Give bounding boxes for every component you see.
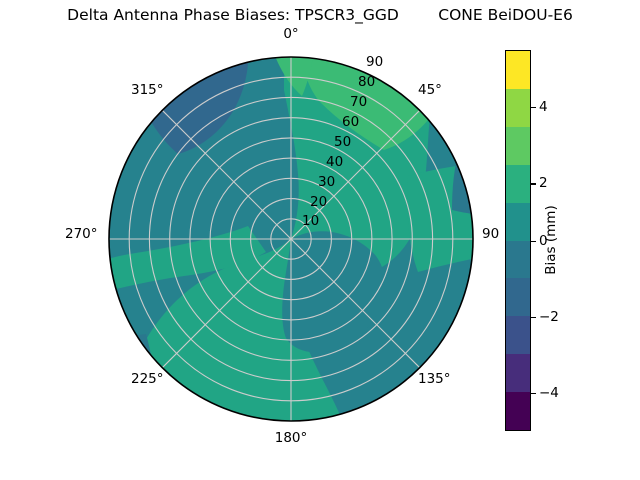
colorbar-tick-mark-neg2 (531, 317, 536, 318)
theta-tick-225: 225° (131, 371, 164, 387)
colorbar-band-6 (506, 278, 530, 316)
colorbar-band-4 (506, 203, 530, 241)
colorbar-tick-mark-neg4 (531, 393, 536, 394)
theta-tick-315: 315° (131, 82, 164, 98)
colorbar-tick-mark-2 (531, 183, 536, 184)
radial-tick-90: 90 (366, 54, 383, 70)
colorbar-tick-mark-4 (531, 107, 536, 108)
radial-tick-80: 80 (358, 74, 375, 90)
angular-gridlines (109, 57, 473, 421)
polar-plot-svg (108, 56, 474, 422)
colorbar-band-3 (506, 165, 530, 203)
colorbar-band-7 (506, 316, 530, 354)
radial-tick-60: 60 (342, 114, 359, 130)
colorbar-band-0 (506, 51, 530, 89)
radial-tick-30: 30 (318, 174, 335, 190)
radial-tick-20: 20 (310, 194, 327, 210)
colorbar-axis-label: Bias (mm) (543, 205, 559, 274)
colorbar-tick-label-2: 2 (539, 175, 548, 191)
colorbar-tick-mark-0 (531, 241, 536, 242)
theta-tick-135: 135° (418, 371, 451, 387)
colorbar-band-1 (506, 89, 530, 127)
colorbar-band-9 (506, 392, 530, 430)
colorbar-tick-label-4: 4 (539, 99, 548, 115)
theta-tick-45: 45° (418, 82, 442, 98)
figure-canvas: Delta Antenna Phase Biases: TPSCR3_GGD C… (0, 0, 640, 480)
radial-tick-40: 40 (326, 154, 343, 170)
radial-tick-50: 50 (334, 134, 351, 150)
theta-tick-90: 90 (482, 226, 499, 242)
radial-tick-10: 10 (302, 213, 319, 229)
colorbar-band-8 (506, 354, 530, 392)
colorbar-gradient-strip (505, 50, 531, 431)
colorbar-band-5 (506, 241, 530, 279)
colorbar: 4 2 0 −2 −4 (505, 50, 531, 431)
theta-tick-180: 180° (275, 430, 308, 446)
colorbar-band-2 (506, 127, 530, 165)
polar-axes: 10 20 30 40 50 60 70 80 90 (108, 56, 474, 422)
colorbar-tick-label-neg4: −4 (539, 385, 559, 401)
radial-tick-70: 70 (350, 94, 367, 110)
theta-tick-0: 0° (283, 26, 298, 42)
page-title: Delta Antenna Phase Biases: TPSCR3_GGD C… (0, 6, 640, 24)
colorbar-tick-label-neg2: −2 (539, 309, 559, 325)
theta-tick-270: 270° (65, 226, 98, 242)
